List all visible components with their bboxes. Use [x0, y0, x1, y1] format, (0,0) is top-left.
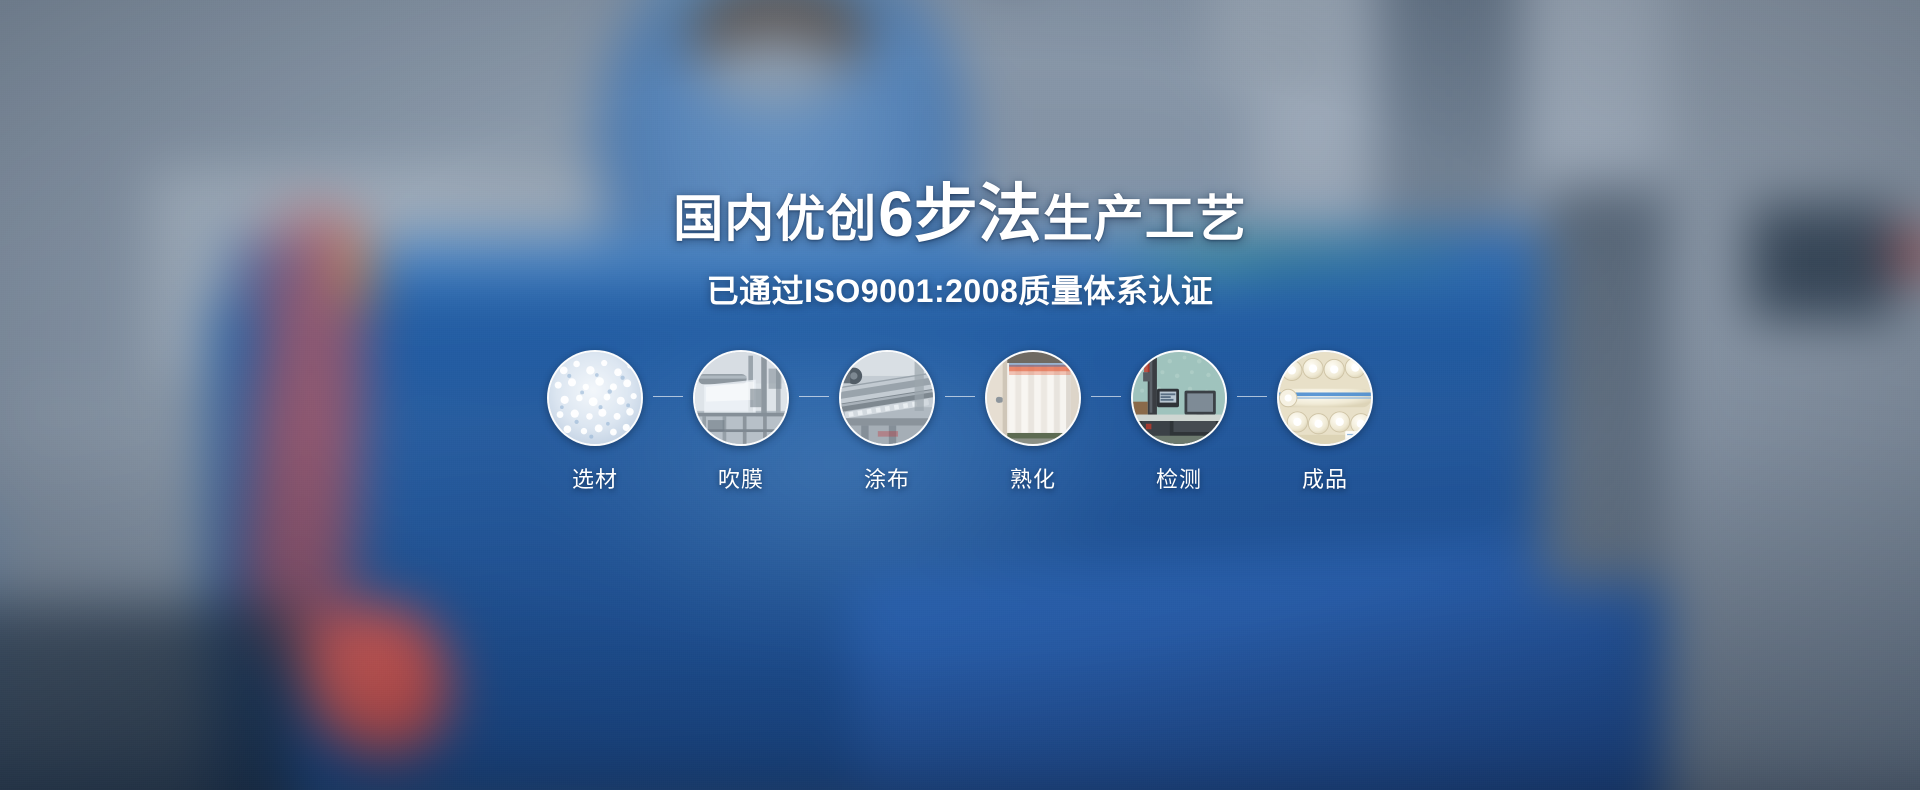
headline-part-1: 国内优创 — [673, 194, 877, 244]
process-step-1-label: 选材 — [572, 462, 618, 494]
process-step-3-label: 涂布 — [864, 462, 910, 494]
process-step-3[interactable]: 涂布 — [829, 350, 945, 494]
curing-room-icon — [985, 350, 1081, 446]
step-connector-5 — [1237, 350, 1267, 442]
headline-part-3: 生产工艺 — [1043, 194, 1247, 244]
coating-machine-icon — [839, 350, 935, 446]
step-connector-4 — [1091, 350, 1121, 442]
process-step-4-label: 熟化 — [1010, 462, 1056, 494]
banner-headline: 国内优创6步法生产工艺 — [673, 182, 1247, 246]
step-connector-2 — [799, 350, 829, 442]
process-step-1[interactable]: 选材 — [537, 350, 653, 494]
process-step-5-label: 检测 — [1156, 462, 1202, 494]
process-step-2-label: 吹膜 — [718, 462, 764, 494]
plastic-pellets-icon — [547, 350, 643, 446]
process-step-6-label: 成品 — [1302, 462, 1348, 494]
blown-film-machine-icon — [693, 350, 789, 446]
finished-film-rolls-icon — [1277, 350, 1373, 446]
testing-lab-icon — [1131, 350, 1227, 446]
step-connector-3 — [945, 350, 975, 442]
process-step-2[interactable]: 吹膜 — [683, 350, 799, 494]
hero-banner: 国内优创6步法生产工艺 已通过ISO9001:2008质量体系认证 — [0, 0, 1920, 790]
banner-subheadline: 已通过ISO9001:2008质量体系认证 — [707, 266, 1214, 312]
step-connector-1 — [653, 350, 683, 442]
headline-part-2-emphasis: 6步法 — [878, 182, 1042, 246]
process-step-6[interactable]: 成品 — [1267, 350, 1383, 494]
process-steps: 选材 — [537, 350, 1383, 494]
process-step-5[interactable]: 检测 — [1121, 350, 1237, 494]
process-step-4[interactable]: 熟化 — [975, 350, 1091, 494]
